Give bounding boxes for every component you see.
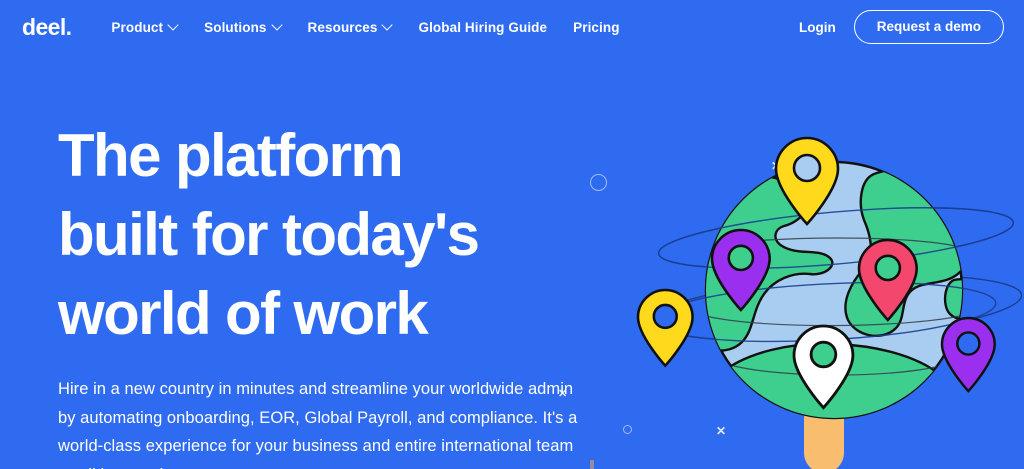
nav-item-global-hiring-guide[interactable]: Global Hiring Guide: [418, 20, 547, 35]
chevron-down-icon: [273, 21, 282, 30]
nav-item-solutions-label: Solutions: [204, 20, 266, 35]
login-link[interactable]: Login: [799, 20, 836, 35]
nav-item-pricing[interactable]: Pricing: [573, 20, 619, 35]
nav-links: Product Solutions Resources Global Hirin…: [111, 20, 799, 35]
pin-edge-purple: [942, 318, 995, 391]
hero-subcopy: Hire in a new country in minutes and str…: [58, 375, 578, 469]
nav-item-global-hiring-guide-label: Global Hiring Guide: [418, 20, 547, 35]
nav-item-product[interactable]: Product: [111, 20, 178, 35]
nav-item-solutions[interactable]: Solutions: [204, 20, 281, 35]
nav-item-pricing-label: Pricing: [573, 20, 619, 35]
chevron-down-icon: [169, 21, 178, 30]
decor-ring-large: [590, 174, 607, 191]
hero-page: deel. Product Solutions Resources Global…: [0, 0, 1024, 469]
deel-logo[interactable]: deel.: [22, 16, 71, 39]
nav-item-resources-label: Resources: [308, 20, 378, 35]
nav-item-product-label: Product: [111, 20, 163, 35]
pin-edge-yellow: [638, 290, 693, 366]
main-navigation: deel. Product Solutions Resources Global…: [0, 0, 1024, 54]
nav-actions: Login Request a demo: [799, 10, 1004, 44]
globe-illustration: [624, 130, 1024, 469]
nav-item-resources[interactable]: Resources: [308, 20, 393, 35]
chevron-down-icon: [383, 21, 392, 30]
request-demo-button[interactable]: Request a demo: [854, 10, 1004, 44]
hero-headline: The platform built for today's world of …: [58, 116, 588, 353]
decor-tiny-bar: [590, 460, 594, 469]
hero-content: The platform built for today's world of …: [58, 116, 588, 469]
